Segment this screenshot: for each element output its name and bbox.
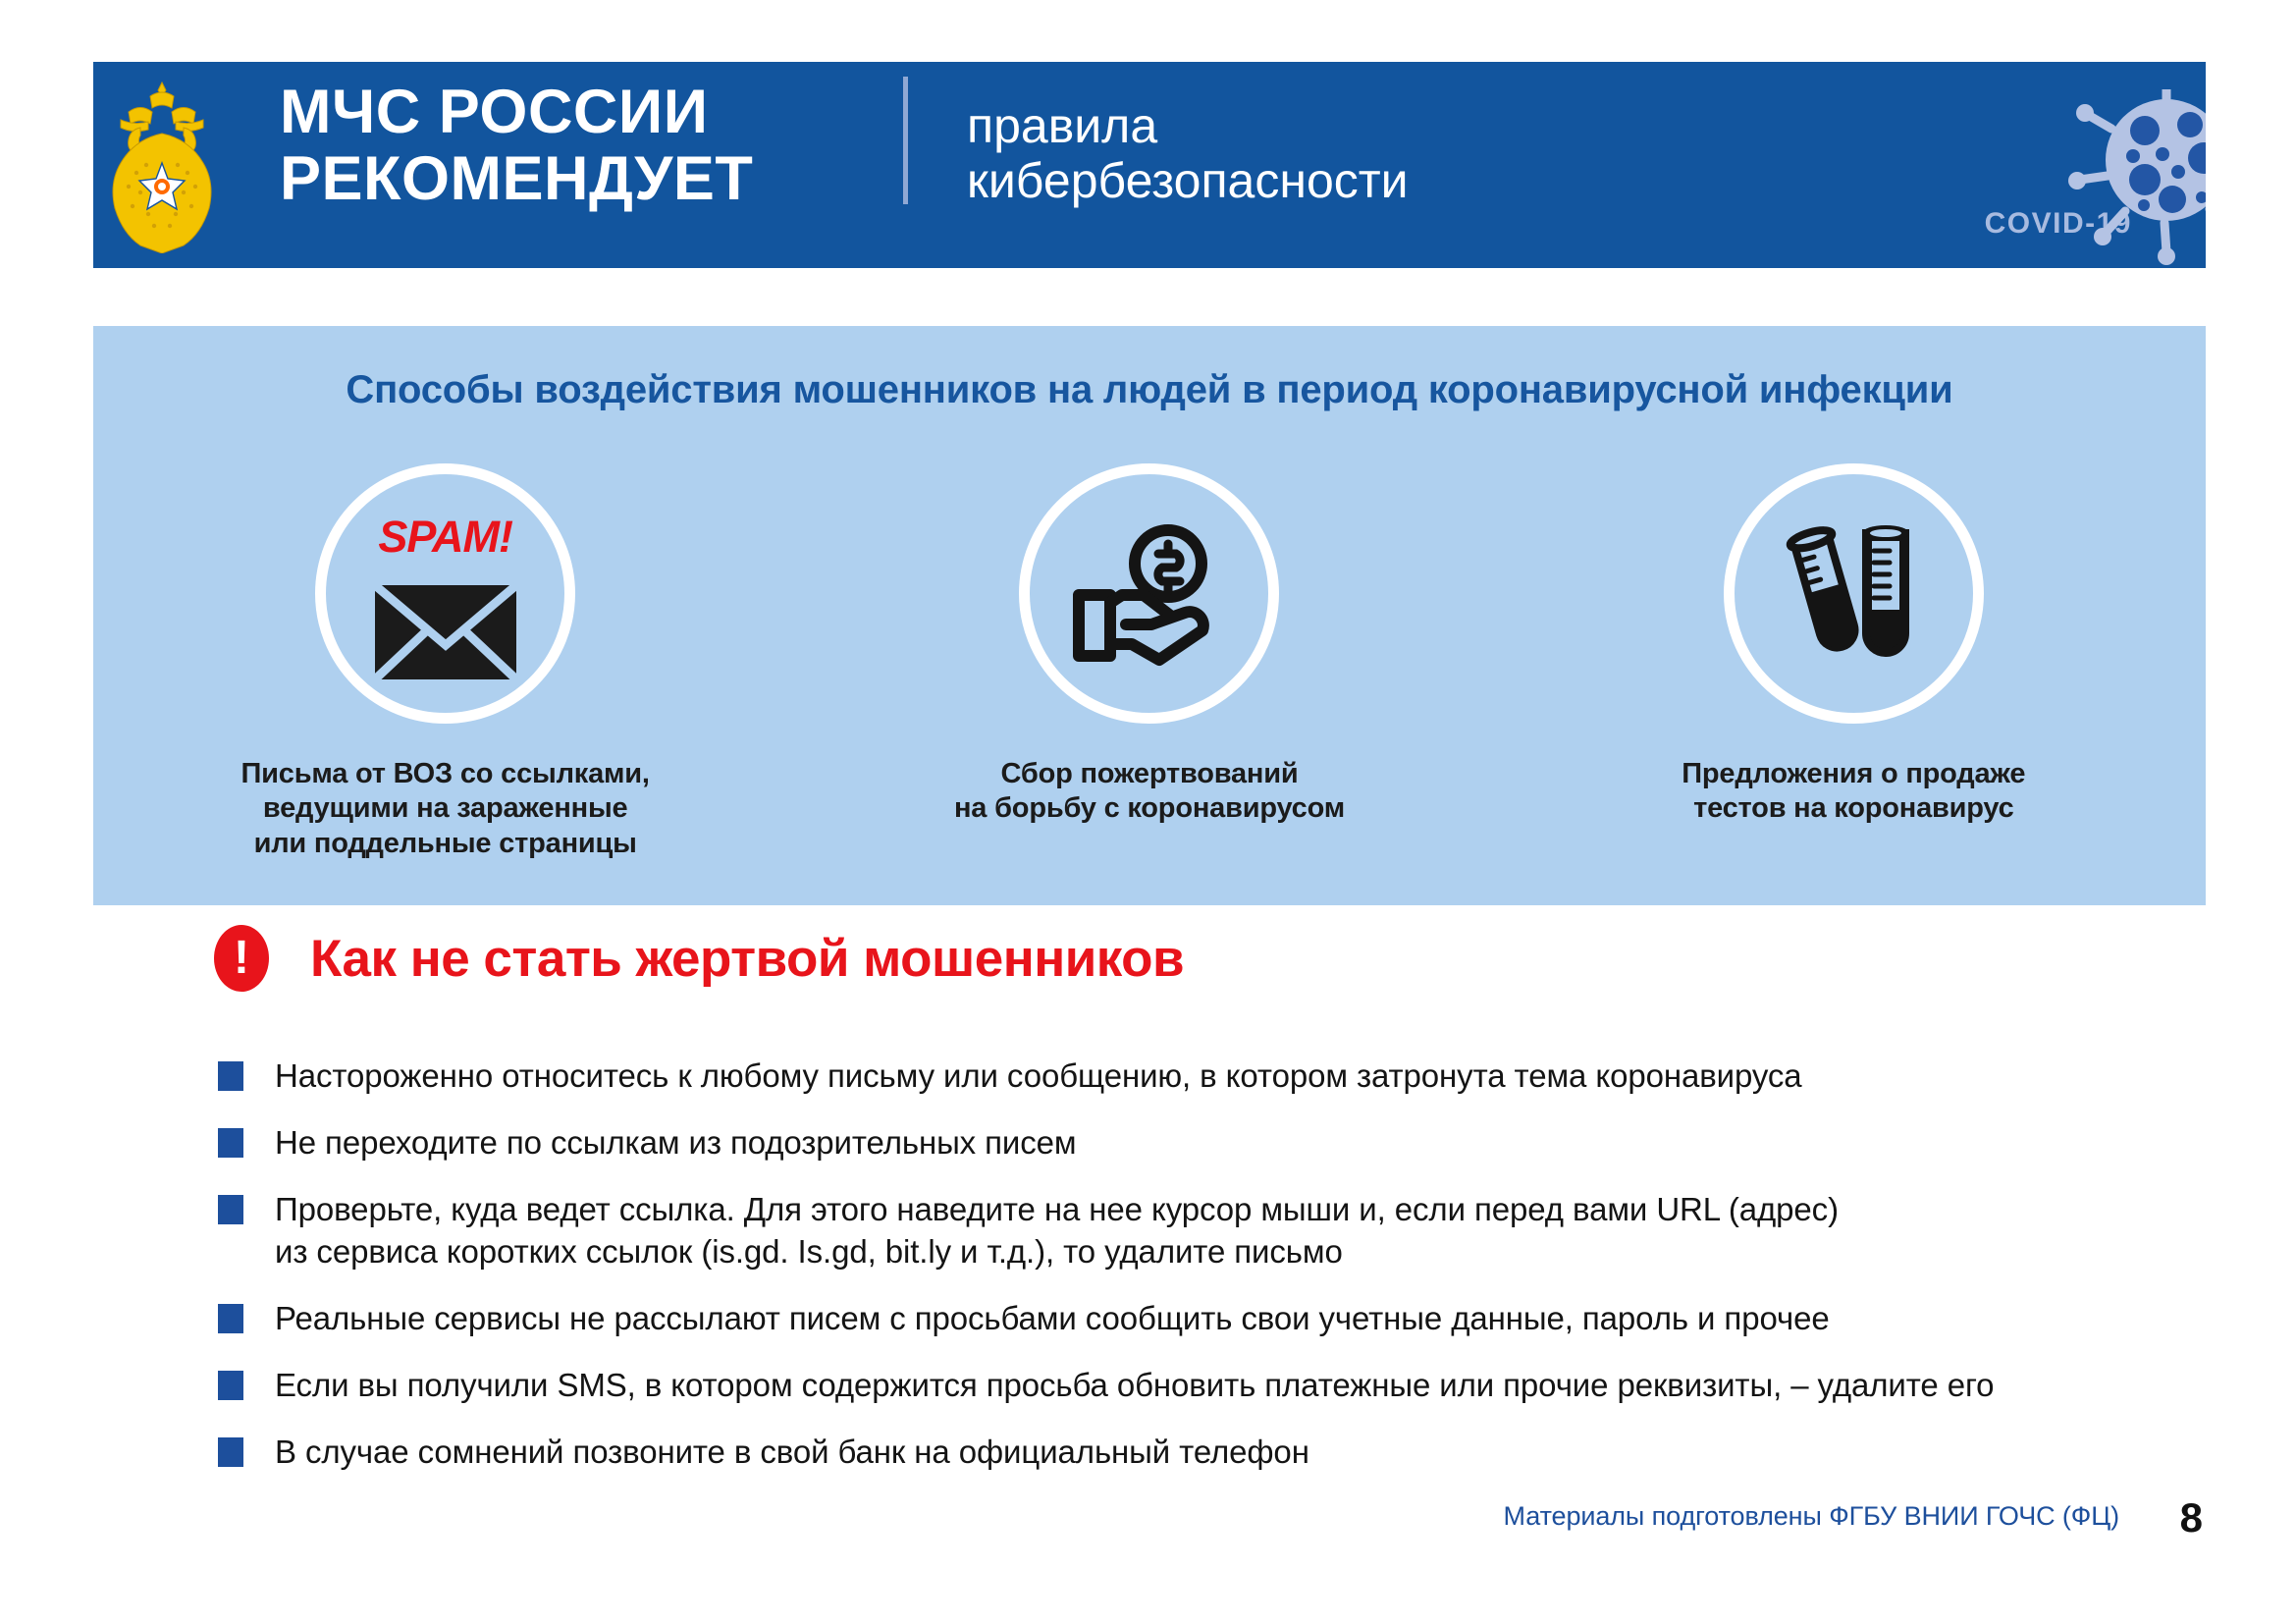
fraud-method-cards: SPAM! Письма от ВОЗ со ссылками, ведущим… bbox=[93, 463, 2206, 861]
list-item: Реальные сервисы не рассылают писем с пр… bbox=[218, 1298, 2142, 1339]
tip-line: Проверьте, куда ведет ссылка. Для этого … bbox=[275, 1189, 1839, 1230]
bullet-marker-icon bbox=[218, 1304, 243, 1333]
fraud-card-donations-caption: Сбор пожертвований на борьбу с коронавир… bbox=[954, 757, 1345, 827]
fraud-card-tests: Предложения о продаже тестов на коронави… bbox=[1549, 463, 2158, 827]
tip-text: Настороженно относитесь к любому письму … bbox=[275, 1056, 1802, 1097]
tip-line: Реальные сервисы не рассылают писем с пр… bbox=[275, 1298, 1830, 1339]
tip-line: Если вы получили SMS, в котором содержит… bbox=[275, 1365, 1994, 1406]
bullet-marker-icon bbox=[218, 1437, 243, 1467]
fraud-card-tests-caption: Предложения о продаже тестов на коронави… bbox=[1682, 757, 2025, 827]
warning-heading: ! Как не стать жертвой мошенников bbox=[214, 925, 1184, 992]
tip-line: Не переходите по ссылкам из подозрительн… bbox=[275, 1122, 1077, 1164]
org-title: МЧС РОССИИ РЕКОМЕНДУЕТ bbox=[280, 79, 869, 212]
tip-line: из сервиса коротких ссылок (is.gd. Is.gd… bbox=[275, 1231, 1839, 1272]
list-item: Не переходите по ссылкам из подозрительн… bbox=[218, 1122, 2142, 1164]
fraud-card-spam: SPAM! Письма от ВОЗ со ссылками, ведущим… bbox=[141, 463, 750, 861]
page-number: 8 bbox=[2180, 1494, 2203, 1542]
caption-line: на борьбу с коронавирусом bbox=[954, 791, 1345, 826]
test-tubes-icon bbox=[1724, 463, 1984, 724]
caption-line: Предложения о продаже bbox=[1682, 757, 2025, 791]
footer-credit: Материалы подготовлены ФГБУ ВНИИ ГОЧС (Ф… bbox=[1504, 1501, 2119, 1532]
tip-line: В случае сомнений позвоните в свой банк … bbox=[275, 1432, 1309, 1473]
prevention-tips-list: Настороженно относитесь к любому письму … bbox=[218, 1056, 2142, 1499]
hand-holding-coin-icon bbox=[1019, 463, 1279, 724]
fraud-methods-panel: Способы воздействия мошенников на людей … bbox=[93, 326, 2206, 905]
fraud-card-spam-caption: Письма от ВОЗ со ссылками, ведущими на з… bbox=[241, 757, 650, 861]
tip-line: Настороженно относитесь к любому письму … bbox=[275, 1056, 1802, 1097]
envelope-glyph-icon bbox=[372, 580, 519, 688]
tip-text: Если вы получили SMS, в котором содержит… bbox=[275, 1365, 1994, 1406]
mchs-eagle-emblem-icon bbox=[93, 77, 231, 253]
list-item: В случае сомнений позвоните в свой банк … bbox=[218, 1432, 2142, 1473]
header-subtitle-line2: кибербезопасности bbox=[967, 153, 1850, 208]
exclamation-circle-icon: ! bbox=[214, 925, 269, 992]
bullet-marker-icon bbox=[218, 1371, 243, 1400]
list-item: Если вы получили SMS, в котором содержит… bbox=[218, 1365, 2142, 1406]
caption-line: Письма от ВОЗ со ссылками, bbox=[241, 757, 650, 791]
tip-text: Реальные сервисы не рассылают писем с пр… bbox=[275, 1298, 1830, 1339]
tip-text: В случае сомнений позвоните в свой банк … bbox=[275, 1432, 1309, 1473]
caption-line: или поддельные страницы bbox=[241, 827, 650, 861]
spam-envelope-icon: SPAM! bbox=[315, 463, 575, 724]
org-title-line1: МЧС РОССИИ bbox=[280, 78, 709, 146]
caption-line: тестов на коронавирус bbox=[1682, 791, 2025, 826]
warning-heading-text: Как не стать жертвой мошенников bbox=[310, 929, 1184, 989]
list-item: Настороженно относитесь к любому письму … bbox=[218, 1056, 2142, 1097]
tip-text: Проверьте, куда ведет ссылка. Для этого … bbox=[275, 1189, 1839, 1272]
bullet-marker-icon bbox=[218, 1061, 243, 1091]
header-divider bbox=[903, 77, 908, 204]
caption-line: ведущими на зараженные bbox=[241, 791, 650, 826]
org-title-line2: РЕКОМЕНДУЕТ bbox=[280, 145, 869, 212]
bullet-marker-icon bbox=[218, 1128, 243, 1158]
header-subtitle-line1: правила bbox=[967, 98, 1157, 153]
coronavirus-particle-icon bbox=[2047, 89, 2206, 268]
list-item: Проверьте, куда ведет ссылка. Для этого … bbox=[218, 1189, 2142, 1272]
fraud-card-donations: Сбор пожертвований на борьбу с коронавир… bbox=[845, 463, 1454, 827]
covid-19-label: COVID-19 bbox=[1985, 207, 2132, 241]
bullet-marker-icon bbox=[218, 1195, 243, 1224]
panel-title: Способы воздействия мошенников на людей … bbox=[93, 368, 2206, 412]
caption-line: Сбор пожертвований bbox=[954, 757, 1345, 791]
infographic-page: COVID-19 bbox=[0, 0, 2296, 1624]
spam-badge-label: SPAM! bbox=[326, 512, 564, 563]
tip-text: Не переходите по ссылкам из подозрительн… bbox=[275, 1122, 1077, 1164]
header-subtitle: правила кибербезопасности bbox=[967, 98, 1850, 208]
